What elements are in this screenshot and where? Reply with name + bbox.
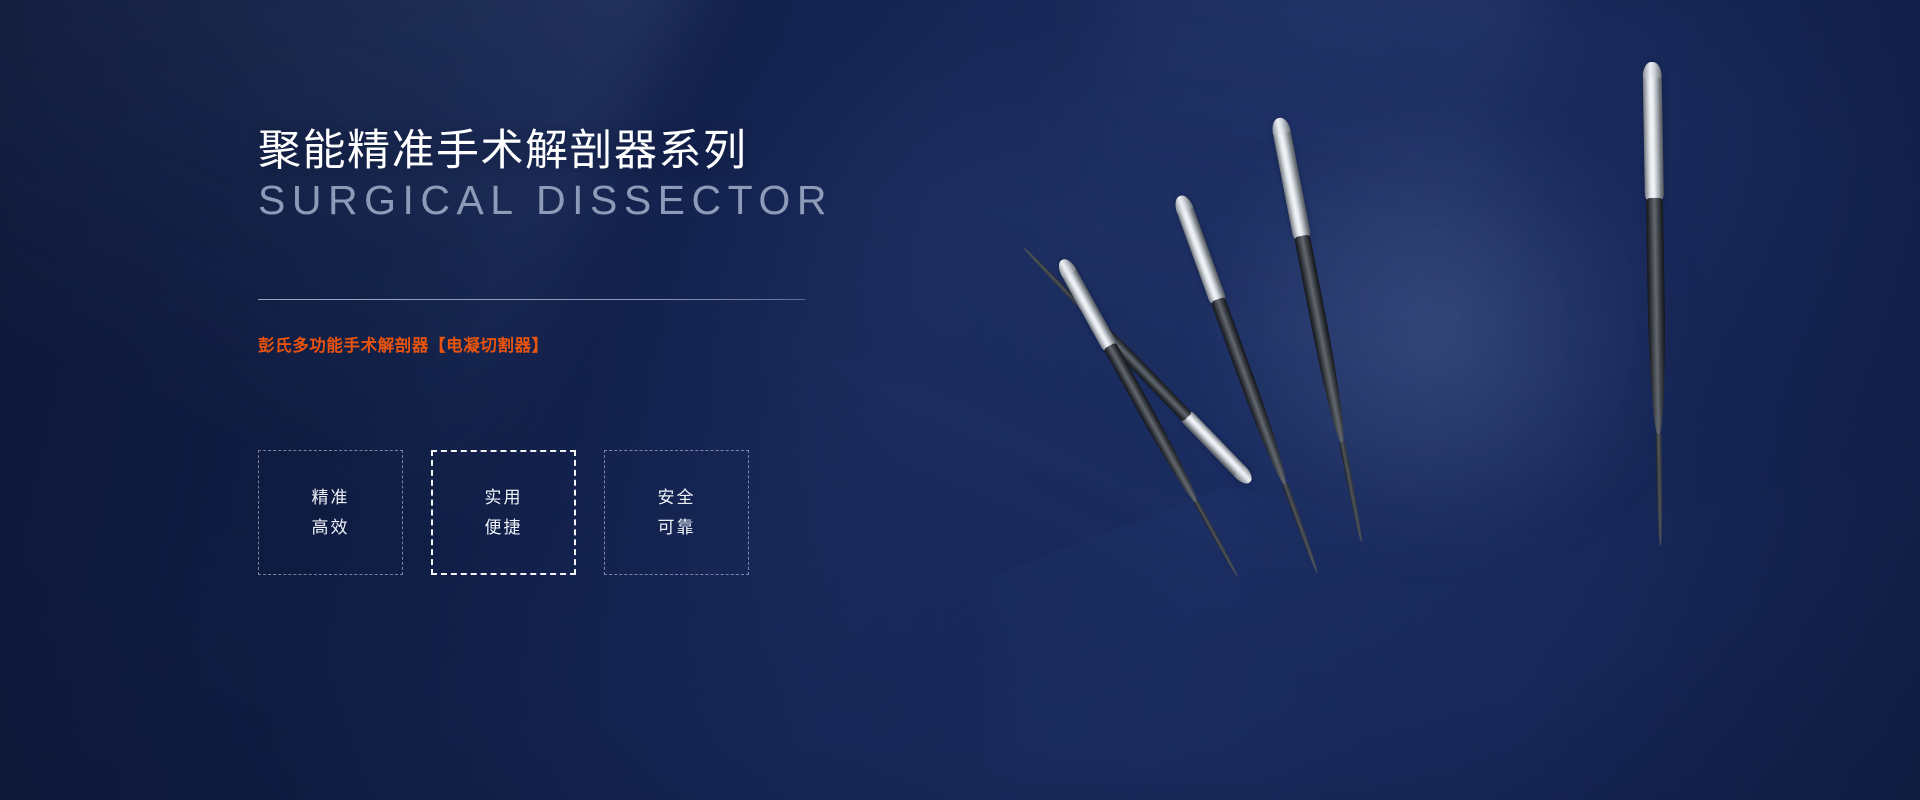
feature-label-line1: 安全 — [658, 487, 696, 508]
feature-box-precision[interactable]: 精准 高效 — [258, 450, 403, 575]
feature-box-practical[interactable]: 实用 便捷 — [431, 450, 576, 575]
page-title: 聚能精准手术解剖器系列 — [258, 126, 748, 177]
feature-box-safety[interactable]: 安全 可靠 — [604, 450, 749, 575]
feature-label-line2: 便捷 — [485, 517, 523, 538]
hero-content: 聚能精准手术解剖器系列 SURGICAL DISSECTOR 彭氏多功能手术解剖… — [258, 0, 1018, 800]
feature-label-line1: 实用 — [485, 487, 523, 508]
divider — [258, 299, 805, 300]
feature-label-line2: 高效 — [312, 517, 350, 538]
hero-banner: 聚能精准手术解剖器系列 SURGICAL DISSECTOR 彭氏多功能手术解剖… — [0, 0, 1920, 800]
feature-label-line2: 可靠 — [658, 517, 696, 538]
feature-label-line1: 精准 — [312, 487, 350, 508]
page-subtitle: SURGICAL DISSECTOR — [258, 176, 833, 225]
feature-box-group: 精准 高效 实用 便捷 安全 可靠 — [258, 450, 749, 575]
product-tagline: 彭氏多功能手术解剖器【电凝切割器】 — [258, 332, 549, 356]
